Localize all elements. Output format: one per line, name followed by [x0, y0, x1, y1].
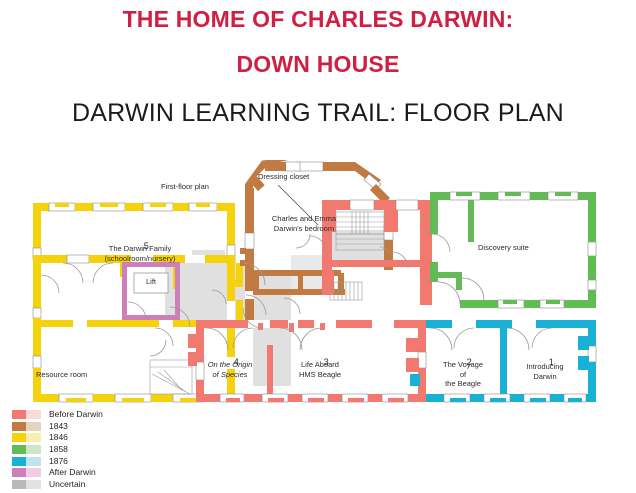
floor-plan-svg	[0, 160, 636, 422]
legend-swatch-dark	[12, 422, 26, 431]
legend-label: After Darwin	[49, 468, 96, 477]
legend-swatch-dark	[12, 480, 26, 489]
legend-rows: Before Darwin1843184618581876After Darwi…	[12, 409, 162, 493]
legend-label: 1843	[49, 422, 68, 431]
dressing-closet-label: Dressing closet	[258, 172, 309, 182]
legend-label: 1846	[49, 433, 68, 442]
page-title-line-2: DOWN HOUSE	[0, 31, 636, 76]
room-2-name: The Voyage of the Beagle	[430, 360, 496, 389]
legend-swatch-dark	[12, 410, 26, 419]
resource-room-label: Resource room	[36, 370, 87, 380]
legend-item: After Darwin	[12, 467, 162, 479]
legend-swatch-light	[26, 410, 41, 419]
legend-swatch-dark	[12, 445, 26, 454]
legend-swatch-dark	[12, 457, 26, 466]
page-title-line-1: THE HOME OF CHARLES DARWIN:	[0, 0, 636, 31]
floor-plan-diagram: First-floor plan 5 The Darwin Family (sc…	[0, 160, 636, 422]
legend-label: 1876	[49, 457, 68, 466]
legend-swatch-dark	[12, 433, 26, 442]
legend-swatch-light	[26, 433, 41, 442]
page-subtitle: DARWIN LEARNING TRAIL: FLOOR PLAN	[0, 76, 636, 126]
legend-swatch-light	[26, 445, 41, 454]
legend-item: 1843	[12, 421, 162, 433]
legend-label: 1858	[49, 445, 68, 454]
room-1-name: Introducing Darwin	[512, 362, 578, 381]
discovery-suite-label: Discovery suite	[478, 243, 529, 253]
bedroom-label: Charles and Emma Darwin's bedroom	[256, 214, 352, 233]
legend-swatch-light	[26, 480, 41, 489]
legend-swatch-light	[26, 457, 41, 466]
room-5-name: The Darwin Family (schoolroom/nursery)	[90, 244, 190, 263]
room-4-name: On the Origin of Species	[190, 360, 270, 379]
legend-item: Uncertain	[12, 479, 162, 491]
lift-label: Lift	[134, 277, 168, 287]
legend-swatch-dark	[12, 468, 26, 477]
legend-label: Before Darwin	[49, 410, 103, 419]
legend-swatch-light	[26, 468, 41, 477]
page-titles: THE HOME OF CHARLES DARWIN: DOWN HOUSE D…	[0, 0, 636, 126]
legend-item: 1876	[12, 455, 162, 467]
floor-plan-page: THE HOME OF CHARLES DARWIN: DOWN HOUSE D…	[0, 0, 636, 493]
phase-legend: Before Darwin1843184618581876After Darwi…	[12, 409, 162, 493]
legend-swatch-light	[26, 422, 41, 431]
legend-item: Before Darwin	[12, 409, 162, 421]
legend-label: Uncertain	[49, 480, 85, 489]
room-3-name: Life Aboard HMS Beagle	[280, 360, 360, 379]
legend-item: 1858	[12, 444, 162, 456]
legend-item: 1846	[12, 432, 162, 444]
first-floor-plan-caption: First-floor plan	[161, 182, 209, 192]
